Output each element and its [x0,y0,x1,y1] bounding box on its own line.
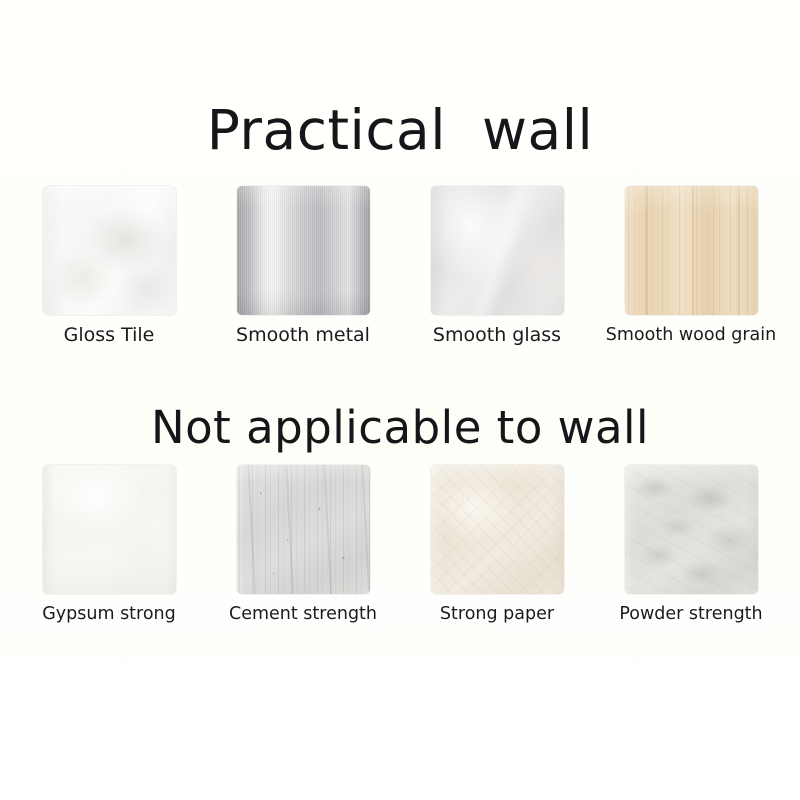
swatch-smooth-glass [431,186,564,315]
swatch-powder-strength [625,465,758,594]
swatch-item-gloss-tile[interactable]: Gloss Tile [12,186,206,347]
swatch-label-smooth-wood-grain: Smooth wood grain [606,323,776,347]
section-heading-practical: Practical wall [0,98,800,162]
swatch-smooth-metal [237,186,370,315]
swatch-cement-strength [237,465,370,594]
swatch-smooth-wood-grain [625,186,758,315]
swatch-label-smooth-glass: Smooth glass [433,323,561,347]
swatch-strong-paper [431,465,564,594]
swatch-label-cement-strength: Cement strength [229,602,377,626]
swatch-item-cement-strength[interactable]: Cement strength [206,465,400,626]
swatch-gloss-tile [43,186,176,315]
swatch-item-strong-paper[interactable]: Strong paper [400,465,594,626]
section-heading-not-applicable: Not applicable to wall [0,401,800,455]
swatch-row-not-applicable: Gypsum strong Cement strength Strong pap… [0,465,800,640]
swatch-gypsum-strong [43,465,176,594]
swatch-label-gypsum-strong: Gypsum strong [42,602,176,626]
swatch-label-powder-strength: Powder strength [619,602,762,626]
swatch-item-powder-strength[interactable]: Powder strength [594,465,788,626]
swatch-item-smooth-metal[interactable]: Smooth metal [206,186,400,347]
material-compatibility-poster: Practical wall Gloss Tile Smooth metal S… [0,0,800,800]
swatch-label-strong-paper: Strong paper [440,602,554,626]
swatch-label-gloss-tile: Gloss Tile [64,323,155,347]
swatch-item-smooth-glass[interactable]: Smooth glass [400,186,594,347]
swatch-label-smooth-metal: Smooth metal [236,323,370,347]
swatch-item-gypsum-strong[interactable]: Gypsum strong [12,465,206,626]
swatch-row-practical: Gloss Tile Smooth metal Smooth glass Smo… [0,186,800,361]
swatch-item-smooth-wood-grain[interactable]: Smooth wood grain [594,186,788,347]
